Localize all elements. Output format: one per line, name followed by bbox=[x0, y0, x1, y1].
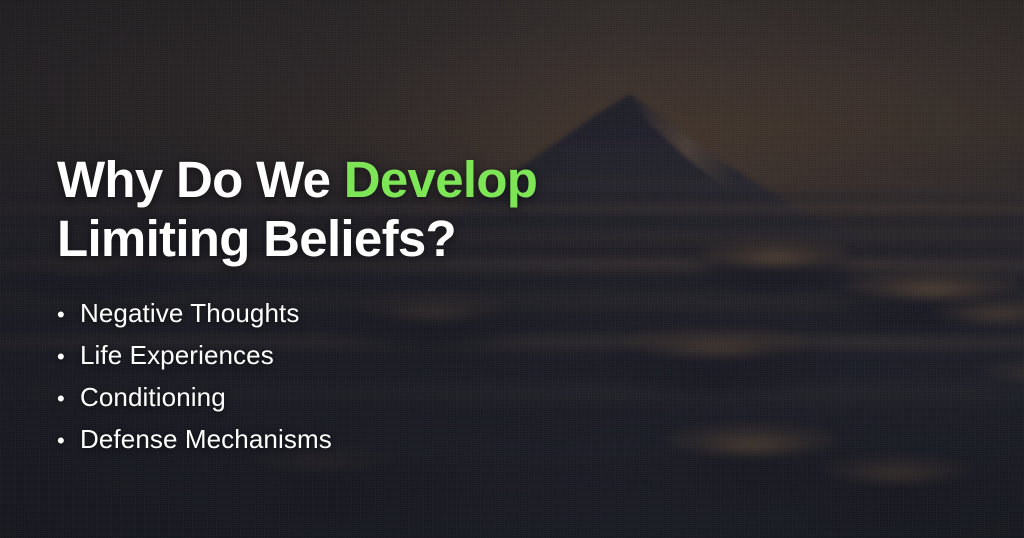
bullet-dot-icon: • bbox=[57, 388, 80, 410]
bullet-dot-icon: • bbox=[57, 304, 80, 326]
list-item-label: Defense Mechanisms bbox=[80, 424, 332, 455]
page-title: Why Do We Develop Limiting Beliefs? bbox=[57, 150, 537, 268]
list-item-label: Life Experiences bbox=[80, 340, 274, 371]
slide-content: Why Do We Develop Limiting Beliefs? • Ne… bbox=[57, 0, 777, 538]
bullet-list: • Negative Thoughts • Life Experiences •… bbox=[57, 298, 332, 466]
list-item: • Negative Thoughts bbox=[57, 298, 332, 340]
bullet-dot-icon: • bbox=[57, 346, 80, 368]
list-item: • Life Experiences bbox=[57, 340, 332, 382]
slide: Why Do We Develop Limiting Beliefs? • Ne… bbox=[0, 0, 1024, 538]
list-item-label: Conditioning bbox=[80, 382, 226, 413]
headline-line1-lead: Why Do We bbox=[57, 151, 344, 208]
bullet-dot-icon: • bbox=[57, 430, 80, 452]
headline-accent-word: Develop bbox=[344, 151, 538, 208]
list-item-label: Negative Thoughts bbox=[80, 298, 299, 329]
headline-line2: Limiting Beliefs? bbox=[57, 210, 456, 267]
list-item: • Conditioning bbox=[57, 382, 332, 424]
list-item: • Defense Mechanisms bbox=[57, 424, 332, 466]
